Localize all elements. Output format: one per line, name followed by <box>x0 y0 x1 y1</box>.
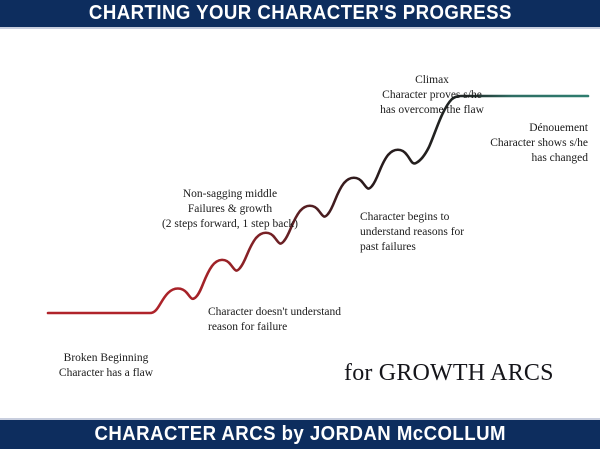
bottom-banner: CHARACTER ARCS by JORDAN McCOLLUM <box>0 418 600 449</box>
annotation-begins-to-understand: Character begins to understand reasons f… <box>360 210 520 256</box>
subtitle-growth-arcs: for GROWTH ARCS <box>344 360 554 387</box>
top-banner: CHARTING YOUR CHARACTER'S PROGRESS <box>0 0 600 29</box>
chart-area: Climax Character proves s/he has overcom… <box>0 29 600 418</box>
annotation-broken-beginning: Broken Beginning Character has a flaw <box>26 351 186 381</box>
infographic-canvas: CHARTING YOUR CHARACTER'S PROGRESS <box>0 0 600 449</box>
annotation-non-sagging-middle: Non-sagging middle Failures & growth (2 … <box>128 187 332 233</box>
annotation-denouement: Dénouement Character shows s/he has chan… <box>420 121 588 167</box>
bottom-banner-title: CHARACTER ARCS by JORDAN McCOLLUM <box>94 423 505 446</box>
annotation-climax: Climax Character proves s/he has overcom… <box>352 73 512 119</box>
top-banner-title: CHARTING YOUR CHARACTER'S PROGRESS <box>89 2 512 25</box>
annotation-doesnt-understand: Character doesn't understand reason for … <box>208 305 398 335</box>
